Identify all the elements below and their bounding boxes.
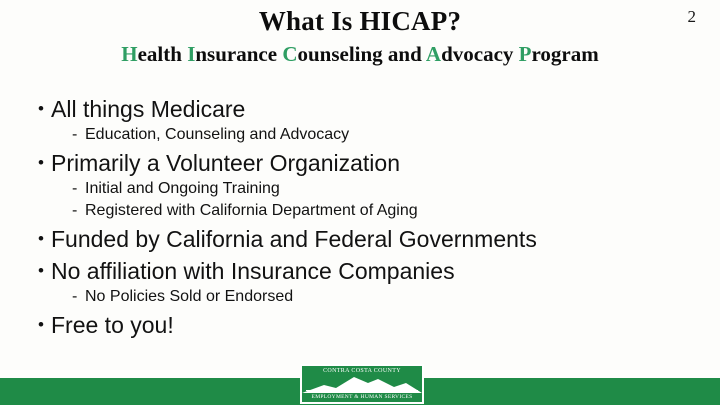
bullet-text: All things Medicare — [51, 94, 245, 124]
bullet-item-level1: •Funded by California and Federal Govern… — [0, 224, 720, 254]
bullet-dash-icon: - — [72, 286, 85, 308]
bullet-list: •All things Medicare-Education, Counseli… — [0, 92, 720, 340]
bullet-item-level2: -Initial and Ongoing Training — [0, 178, 720, 200]
bullet-dash-icon: - — [72, 200, 85, 222]
subtitle-capital-2: C — [282, 42, 297, 66]
bullet-dot-icon: • — [38, 230, 51, 247]
subtitle-text-4: rogram — [531, 42, 598, 66]
bullet-text: Free to you! — [51, 310, 174, 340]
bullet-text: Registered with California Department of… — [85, 200, 418, 222]
bullet-text: Funded by California and Federal Governm… — [51, 224, 537, 254]
bullet-text: No Policies Sold or Endorsed — [85, 286, 293, 308]
subtitle-text-2: ounseling and — [297, 42, 425, 66]
bullet-dot-icon: • — [38, 154, 51, 171]
logo-bottom-text: EMPLOYMENT & HUMAN SERVICES — [302, 395, 422, 401]
page-title: What Is HICAP? — [0, 6, 720, 37]
bullet-item-level1: •Primarily a Volunteer Organization — [0, 148, 720, 178]
bullet-item-level1: •Free to you! — [0, 310, 720, 340]
subtitle-text-1: nsurance — [195, 42, 282, 66]
bullet-dot-icon: • — [38, 100, 51, 117]
bullet-dot-icon: • — [38, 262, 51, 279]
subtitle-capital-3: A — [426, 42, 441, 66]
logo-inner-panel: CONTRA COSTA COUNTY EMPLOYMENT & HUMAN S… — [302, 366, 422, 402]
subtitle-text-3: dvocacy — [441, 42, 519, 66]
bullet-item-level1: •All things Medicare — [0, 94, 720, 124]
bullet-text: No affiliation with Insurance Companies — [51, 256, 455, 286]
bullet-item-level2: -Registered with California Department o… — [0, 200, 720, 222]
bullet-item-level1: •No affiliation with Insurance Companies — [0, 256, 720, 286]
title-block: What Is HICAP? Health Insurance Counseli… — [0, 6, 720, 67]
bullet-item-level2: -No Policies Sold or Endorsed — [0, 286, 720, 308]
subtitle-capital-4: P — [519, 42, 532, 66]
page-subtitle: Health Insurance Counseling and Advocacy… — [0, 42, 720, 67]
subtitle-text-0: ealth — [138, 42, 188, 66]
subtitle-capital-0: H — [121, 42, 137, 66]
bullet-dash-icon: - — [72, 178, 85, 200]
bullet-text: Initial and Ongoing Training — [85, 178, 280, 200]
bullet-dash-icon: - — [72, 124, 85, 146]
bullet-text: Primarily a Volunteer Organization — [51, 148, 400, 178]
logo-divider — [306, 390, 418, 391]
logo-top-text: CONTRA COSTA COUNTY — [302, 368, 422, 374]
bullet-item-level2: -Education, Counseling and Advocacy — [0, 124, 720, 146]
bullet-dot-icon: • — [38, 316, 51, 333]
bullet-text: Education, Counseling and Advocacy — [85, 124, 349, 146]
contra-costa-county-logo: CONTRA COSTA COUNTY EMPLOYMENT & HUMAN S… — [300, 364, 424, 404]
slide-canvas: 2 What Is HICAP? Health Insurance Counse… — [0, 0, 720, 405]
